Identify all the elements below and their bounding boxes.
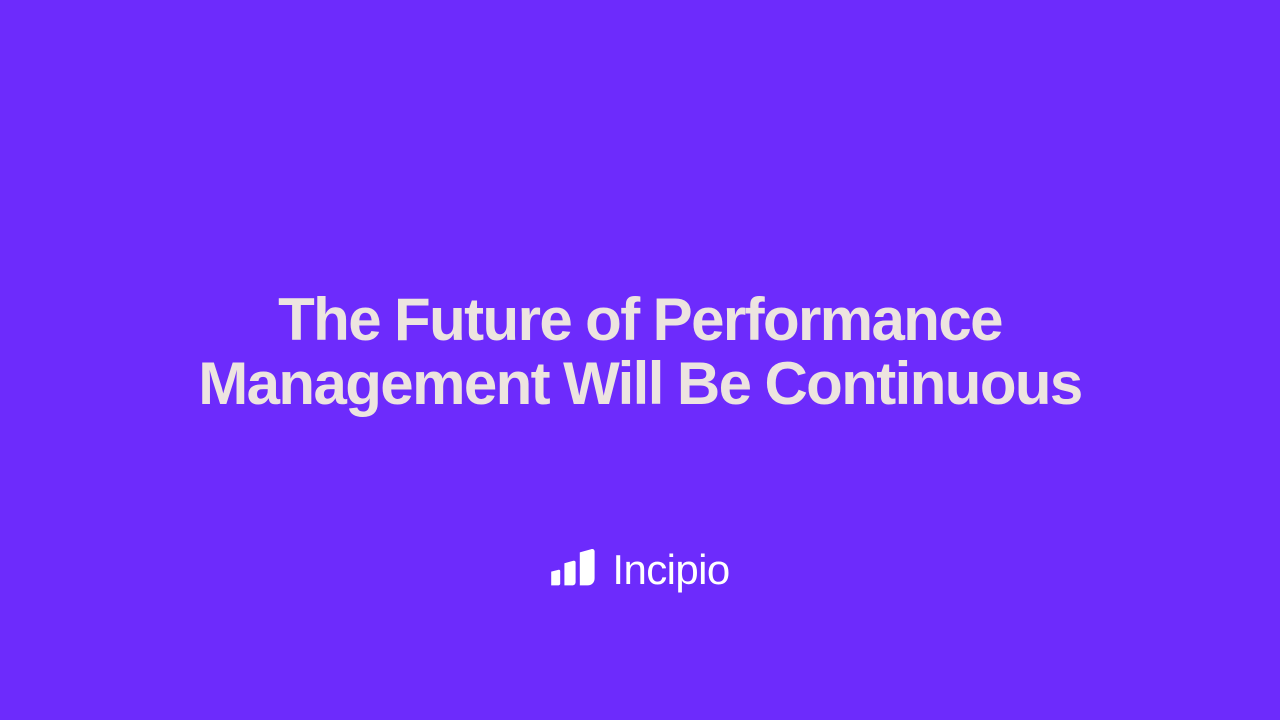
headline-line-1: The Future of Performance [278,286,1002,353]
headline-block: The Future of PerformanceManagement Will… [0,288,1280,416]
logo-lockup: Incipio [0,541,1280,589]
headline-line-2: Management Will Be Continuous [198,350,1081,417]
incipio-bar-chart-mark-icon [550,541,598,589]
title-slide: The Future of PerformanceManagement Will… [0,0,1280,720]
logo-wordmark: Incipio [612,549,729,591]
page-title: The Future of PerformanceManagement Will… [160,288,1120,416]
